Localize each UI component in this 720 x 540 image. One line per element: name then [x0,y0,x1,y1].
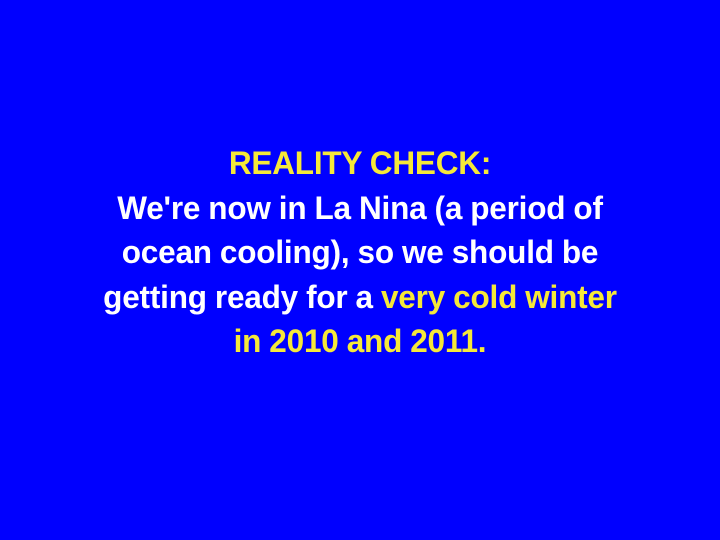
body-text-line-3: ocean cooling), so we should be [122,234,599,270]
body-text-line-4-emphasis: very cold winter [381,279,617,315]
body-text-line-5-emphasis: in 2010 and 2011. [234,323,487,359]
slide-line-3: ocean cooling), so we should be [31,230,689,275]
body-text-line-2: We're now in La Nina (a period of [117,190,603,226]
slide-line-2: We're now in La Nina (a period of [31,186,689,231]
heading-text: REALITY CHECK: [229,145,491,181]
body-text-line-4-plain: getting ready for a [103,279,381,315]
slide-canvas: REALITY CHECK: We're now in La Nina (a p… [0,0,720,540]
slide-line-4: getting ready for a very cold winter [31,275,689,320]
slide-line-5: in 2010 and 2011. [31,319,689,364]
slide-line-heading: REALITY CHECK: [31,141,689,186]
slide-text-block: REALITY CHECK: We're now in La Nina (a p… [26,141,694,364]
